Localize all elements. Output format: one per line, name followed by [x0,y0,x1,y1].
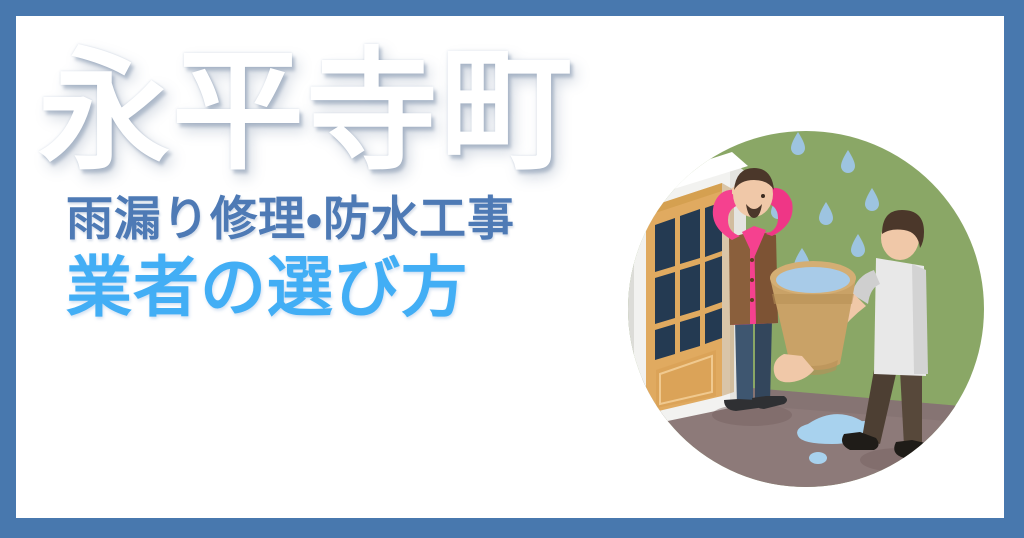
roof-leak-illustration [612,108,984,494]
bucket-water [776,267,850,293]
right-leg [755,320,772,403]
page-title: 永平寺町 [38,46,638,178]
text-block: 永平寺町 雨漏り修理・防水工事 業者の選び方 [38,46,638,323]
left-leg [735,320,753,405]
banner-card: 永平寺町 雨漏り修理・防水工事 業者の選び方 [16,16,1004,518]
banner-root: 永平寺町 雨漏り修理・防水工事 業者の選び方 [0,0,1024,538]
door-glass-panes [655,202,722,360]
subtitle-service: 雨漏り修理・防水工事 [66,194,638,243]
tagline-how-to-choose: 業者の選び方 [66,253,638,322]
illustration-scene [612,108,984,494]
